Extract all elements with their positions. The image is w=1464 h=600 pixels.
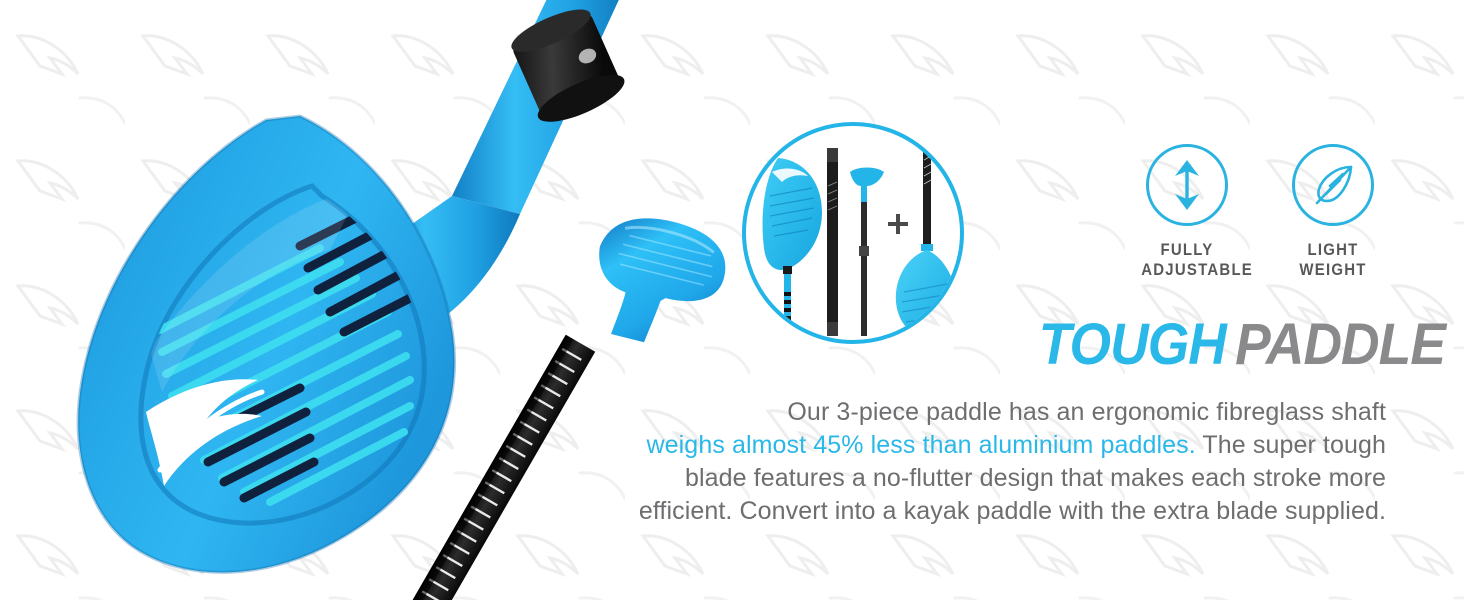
promo-banner: FULLY ADJUSTABLE LIGHT WEIGHT TOUGHPADDL… [0, 0, 1464, 600]
feature-label: LIGHT WEIGHT [1287, 240, 1379, 280]
feature-fully-adjustable: FULLY ADJUSTABLE [1135, 144, 1239, 300]
feature-badges: FULLY ADJUSTABLE LIGHT WEIGHT [1128, 144, 1392, 300]
plus-symbol [888, 214, 908, 234]
body-line-3: blade features a no-flutter design that … [685, 464, 1386, 492]
t-grip-shaft-section [850, 168, 884, 337]
feature-ring [1146, 144, 1228, 226]
body-highlight: weighs almost 45% less than aluminium pa… [647, 431, 1196, 459]
feature-label: FULLY ADJUSTABLE [1141, 240, 1233, 280]
three-piece-paddle-combo [742, 122, 964, 344]
feature-ring [1292, 144, 1374, 226]
feather-icon [1307, 159, 1359, 211]
body-line-4: efficient. Convert into a kayak paddle w… [639, 497, 1386, 525]
feature-light-weight: LIGHT WEIGHT [1281, 144, 1385, 300]
headline-paddle: PADDLE [1235, 312, 1445, 377]
mid-shaft-section [827, 148, 838, 336]
body-after-highlight: The super tough [1196, 431, 1386, 459]
body-copy: Our 3-piece paddle has an ergonomic fibr… [596, 396, 1386, 528]
vertical-double-arrow-icon [1163, 156, 1211, 214]
body-line-1: Our 3-piece paddle has an ergonomic fibr… [787, 398, 1386, 426]
headline-tough: TOUGH [1039, 312, 1226, 377]
sup-blade-with-shaft [763, 158, 822, 336]
extra-kayak-blade [896, 140, 958, 338]
page-title: TOUGHPADDLE [1039, 316, 1370, 374]
